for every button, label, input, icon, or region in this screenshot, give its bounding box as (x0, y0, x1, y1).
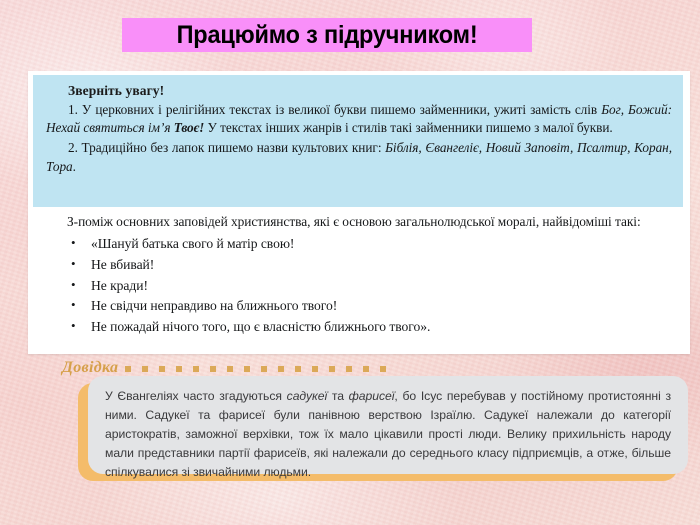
dotted-rule-decoration (125, 364, 386, 372)
dovidka-text-b: та (327, 389, 349, 403)
att-p1-part-b: У текстах інших жанрів і стилів такі зай… (204, 120, 612, 135)
attention-paragraph-1: 1. У церковних і релігійних текстах із в… (46, 101, 672, 137)
list-item: Не кради! (67, 276, 677, 297)
dovidka-italic-farisei: фарисеї (349, 389, 395, 403)
dot-square-icon (142, 366, 148, 372)
dovidka-heading-row: Довідка (62, 360, 386, 376)
slide-canvas: Працюймо з підручником! Зверніть увагу! … (0, 0, 700, 525)
commandments-list: «Шануй батька свого й матір свою! Не вби… (43, 234, 677, 337)
dot-square-icon (312, 366, 318, 372)
dot-square-icon (125, 366, 131, 372)
list-item: Не вбивай! (67, 255, 677, 276)
attention-heading: Зверніть увагу! (68, 83, 672, 99)
dot-square-icon (176, 366, 182, 372)
list-item: «Шануй батька свого й матір свою! (67, 234, 677, 255)
attention-paragraph-2: 2. Традиційно без лапок пишемо назви кул… (46, 139, 672, 175)
list-item: Не пожадай нічого того, що є власністю б… (67, 317, 677, 338)
attention-box: Зверніть увагу! 1. У церковних і релігій… (33, 75, 683, 207)
dovidka-text-a: У Євангеліях часто згадуються (105, 389, 287, 403)
att-p1-bold-italic: Твоє! (174, 120, 205, 135)
dot-square-icon (295, 366, 301, 372)
dot-square-icon (261, 366, 267, 372)
att-p2-part-b: . (73, 159, 76, 174)
page-title: Працюймо з підручником! (177, 23, 478, 48)
list-item: Не свідчи неправдиво на ближнього твого! (67, 296, 677, 317)
dovidka-label: Довідка (62, 360, 118, 376)
dot-square-icon (380, 366, 386, 372)
dovidka-italic-saducei: садукеї (287, 389, 327, 403)
commandments-intro: З-поміж основних заповідей християнства,… (43, 213, 677, 231)
commandments-block: З-поміж основних заповідей християнства,… (33, 213, 685, 338)
dot-square-icon (278, 366, 284, 372)
att-p2-part-a: 2. Традиційно без лапок пишемо назви кул… (68, 140, 385, 155)
dot-square-icon (244, 366, 250, 372)
dot-square-icon (329, 366, 335, 372)
dovidka-box: У Євангеліях часто згадуються садукеї та… (88, 376, 688, 474)
title-banner: Працюймо з підручником! (122, 18, 532, 52)
content-card: Зверніть увагу! 1. У церковних і релігій… (28, 71, 690, 354)
dovidka-text: У Євангеліях часто згадуються садукеї та… (105, 387, 671, 482)
dot-square-icon (227, 366, 233, 372)
dot-square-icon (363, 366, 369, 372)
dot-square-icon (346, 366, 352, 372)
att-p1-part-a: 1. У церковних і релігійних текстах із в… (68, 102, 601, 117)
dot-square-icon (210, 366, 216, 372)
dot-square-icon (193, 366, 199, 372)
dot-square-icon (159, 366, 165, 372)
